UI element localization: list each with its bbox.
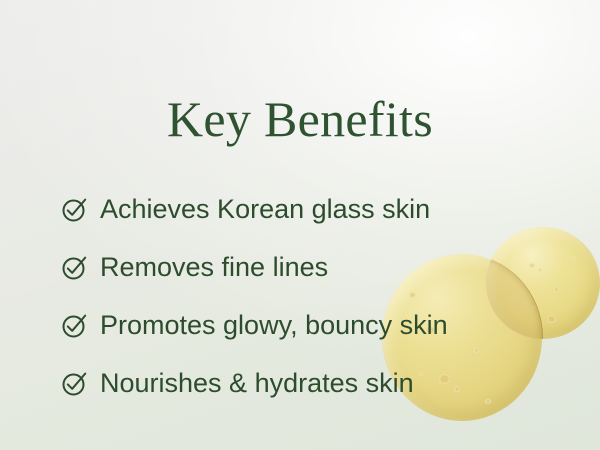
list-item-label: Promotes glowy, bouncy skin	[100, 310, 448, 340]
droplet-speck	[485, 399, 491, 404]
check-circle-icon	[60, 252, 90, 282]
list-item-label: Achieves Korean glass skin	[100, 194, 430, 224]
list-item: Removes fine lines	[60, 238, 448, 296]
droplet-speck	[454, 386, 460, 392]
oil-droplet-small	[486, 227, 600, 339]
page-title: Key Benefits	[0, 90, 600, 148]
list-item-label: Nourishes & hydrates skin	[100, 368, 414, 398]
droplet-speck	[538, 268, 542, 272]
list-item: Nourishes & hydrates skin	[60, 354, 448, 412]
list-item: Achieves Korean glass skin	[60, 180, 448, 238]
check-circle-icon	[60, 368, 90, 398]
key-benefits-slide: Key Benefits Achieves Korean glass skin …	[0, 0, 600, 450]
check-circle-icon	[60, 310, 90, 340]
droplet-speck	[529, 263, 535, 268]
droplet-speck	[554, 287, 559, 292]
benefits-list: Achieves Korean glass skin Removes fine …	[60, 180, 448, 412]
list-item: Promotes glowy, bouncy skin	[60, 296, 448, 354]
droplet-speck	[474, 348, 479, 353]
droplet-speck	[547, 315, 556, 323]
oil-droplet-overlap-region	[486, 227, 600, 339]
droplet-speck	[572, 256, 576, 260]
check-circle-icon	[60, 194, 90, 224]
list-item-label: Removes fine lines	[100, 252, 328, 282]
